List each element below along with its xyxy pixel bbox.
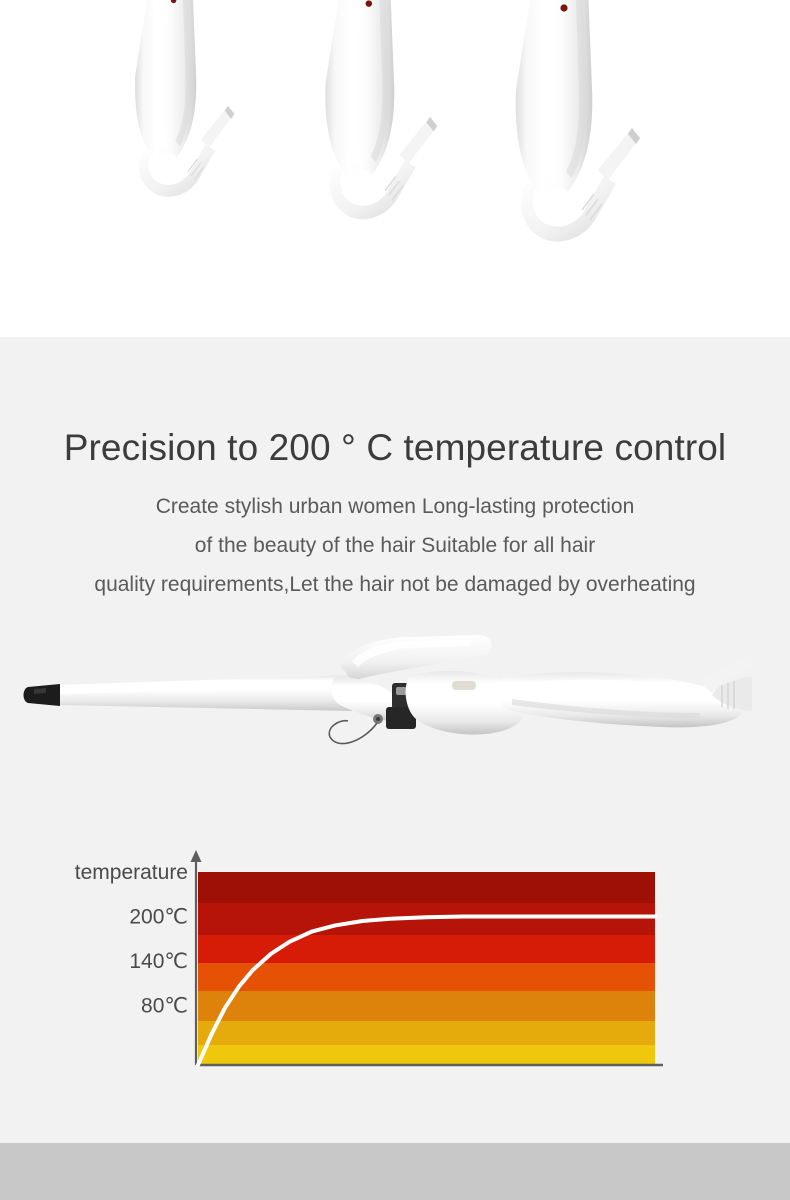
temperature-chart: temperature 200℃ 140℃ 80℃: [0, 845, 790, 1085]
description-text: Create stylish urban women Long-lasting …: [0, 487, 790, 604]
chart-tick-label-200: 200℃: [129, 906, 188, 929]
description-line-1: Create stylish urban women Long-lasting …: [0, 487, 790, 526]
hero-irons-illustration: [0, 0, 790, 337]
hero-product-strip: [0, 0, 790, 337]
chart-y-axis-title: temperature: [75, 861, 188, 884]
curling-iron-illustration: [0, 619, 790, 759]
temperature-chart-svg: temperature 200℃ 140℃ 80℃: [0, 845, 790, 1085]
hero-iron-3: [516, 0, 640, 242]
footer-band: [0, 1143, 790, 1200]
product-detail-page: Precision to 200 ° C temperature control…: [0, 0, 790, 1200]
hero-iron-2: [325, 0, 437, 219]
chart-tick-label-80: 80℃: [141, 995, 188, 1018]
chart-heat-bands: [198, 872, 655, 1065]
description-line-2: of the beauty of the hair Suitable for a…: [0, 526, 790, 565]
chart-tick-label-140: 140℃: [129, 950, 188, 973]
hero-iron-1: [135, 0, 234, 197]
description-line-3: quality requirements,Let the hair not be…: [0, 565, 790, 604]
product-photo: [0, 619, 790, 759]
page-title: Precision to 200 ° C temperature control: [0, 427, 790, 469]
